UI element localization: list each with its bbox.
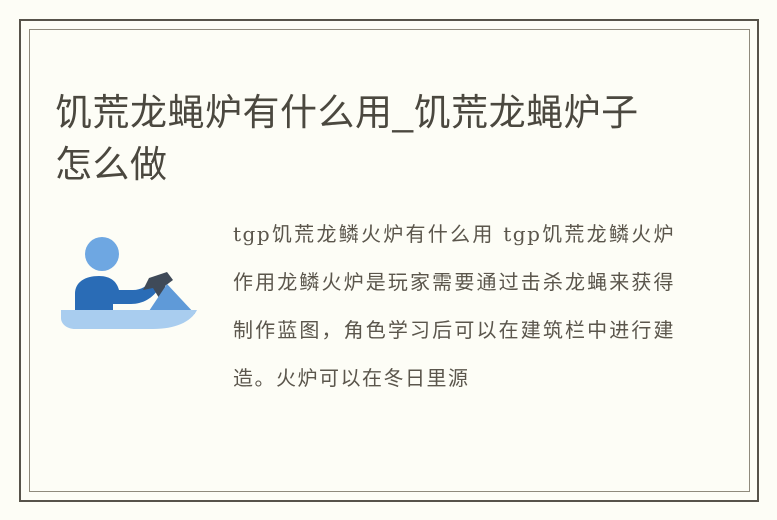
- page-root: 饥荒龙蝇炉有什么用_饥荒龙蝇炉子怎么做 tgp饥荒龙鳞火炉有什么用 tgp饥荒龙…: [0, 0, 777, 520]
- article-content: tgp饥荒龙鳞火炉有什么用 tgp饥荒龙鳞火炉作用龙鳞火炉是玩家需要通过击杀龙蝇…: [55, 210, 675, 402]
- person-on-jetski-icon: [55, 228, 200, 333]
- page-title: 饥荒龙蝇炉有什么用_饥荒龙蝇炉子怎么做: [55, 87, 655, 191]
- article-body-text: tgp饥荒龙鳞火炉有什么用 tgp饥荒龙鳞火炉作用龙鳞火炉是玩家需要通过击杀龙蝇…: [233, 210, 675, 402]
- illustration-container: [55, 210, 205, 333]
